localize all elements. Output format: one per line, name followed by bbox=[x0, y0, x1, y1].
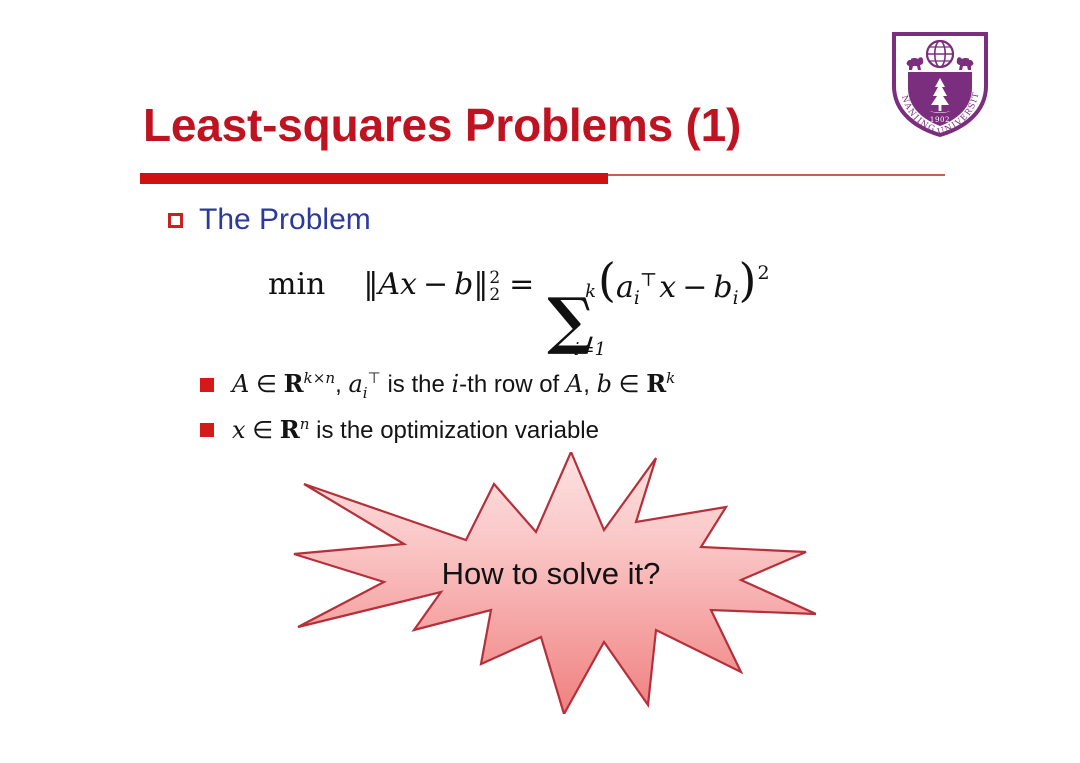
transpose-superscript: ⊤ bbox=[640, 270, 658, 291]
norm-minus: − bbox=[423, 267, 448, 302]
matrix-A: A bbox=[378, 267, 400, 302]
bullet-1-text: A ∈ Rk×n, ai⊤ is the i-th row of A, b ∈ … bbox=[232, 369, 675, 402]
norm-close-bar: ‖ bbox=[473, 267, 488, 302]
bullet-1-index-suffix: -th row of bbox=[459, 371, 559, 398]
sigma-icon: ∑ bbox=[547, 297, 594, 345]
bullet-item-variable: x ∈ Rn is the optimization variable bbox=[200, 415, 599, 445]
summand-expression: ai⊤x−bi bbox=[616, 270, 739, 309]
bullet-1-R1: R bbox=[284, 369, 304, 398]
bullet-1-R2-superscript: k bbox=[666, 369, 675, 387]
bullet-1-comma1: , bbox=[335, 371, 342, 398]
summation-operator: k ∑ i=1 bbox=[547, 283, 594, 359]
bullet-2-x: x bbox=[232, 416, 246, 444]
equation-norm-term: ‖Ax−b‖ 2 2 bbox=[363, 267, 506, 316]
summand-b: b bbox=[713, 270, 732, 305]
slide-canvas: 1902 NANJING UNIVERSITY Least-squares Pr… bbox=[0, 0, 1080, 763]
bullet-2-in1: ∈ bbox=[252, 417, 273, 444]
summand-group: ( ai⊤x−bi ) 2 bbox=[598, 266, 769, 305]
bullet-2-R1-superscript: n bbox=[300, 415, 310, 433]
vector-x: x bbox=[400, 267, 417, 302]
solid-square-bullet-icon bbox=[200, 378, 214, 392]
equals-sign: = bbox=[509, 267, 534, 302]
svg-text:1902: 1902 bbox=[930, 116, 950, 124]
equation-min-operator: min bbox=[268, 267, 325, 302]
summation-lower-limit: i=1 bbox=[574, 341, 606, 359]
summand-x: x bbox=[659, 270, 676, 305]
section-heading-label: The Problem bbox=[199, 203, 371, 237]
hollow-square-bullet-icon bbox=[168, 213, 183, 228]
title-underline-thick bbox=[140, 173, 608, 184]
solid-square-bullet-icon bbox=[200, 423, 214, 437]
summand-minus: − bbox=[682, 270, 707, 305]
starburst-callout-text: How to solve it? bbox=[286, 556, 816, 592]
bullet-1-A2: A bbox=[566, 370, 583, 398]
bullet-1-R2: R bbox=[646, 369, 666, 398]
summand-exponent: 2 bbox=[757, 262, 769, 284]
bullet-1-in2: ∈ bbox=[619, 371, 640, 398]
bullet-1-in1: ∈ bbox=[256, 371, 277, 398]
row-index-subscript: i bbox=[634, 288, 640, 309]
bullet-2-tail: is the optimization variable bbox=[316, 417, 599, 444]
bullet-2-text: x ∈ Rn is the optimization variable bbox=[232, 415, 599, 445]
bullet-1-a-transpose: ⊤ bbox=[368, 370, 381, 387]
bullet-1-mid: is the bbox=[387, 371, 444, 398]
row-vector-a: a bbox=[616, 270, 634, 305]
bullet-1-a: a bbox=[348, 370, 362, 398]
paren-open: ( bbox=[598, 264, 616, 297]
norm-exponent-subscript: 2 2 bbox=[489, 270, 500, 305]
least-squares-equation: min ‖Ax−b‖ 2 2 = k ∑ i=1 ( ai⊤x−bi ) 2 bbox=[268, 262, 769, 356]
bullet-1-comma2: , bbox=[583, 371, 590, 398]
bullet-2-R1: R bbox=[280, 415, 300, 444]
vector-b: b bbox=[454, 267, 473, 302]
section-heading: The Problem bbox=[168, 203, 371, 237]
norm-open-bar: ‖ bbox=[363, 267, 378, 302]
norm-subscript: 2 bbox=[489, 287, 500, 304]
slide-title: Least-squares Problems (1) bbox=[143, 98, 741, 152]
nanjing-university-crest-logo: 1902 NANJING UNIVERSITY bbox=[888, 28, 992, 138]
paren-close: ) bbox=[739, 264, 757, 297]
bullet-1-b: b bbox=[597, 370, 612, 398]
bullet-1-A: A bbox=[232, 370, 249, 398]
bullet-1-R1-superscript: k×n bbox=[304, 369, 336, 387]
bullet-item-dimensions: A ∈ Rk×n, ai⊤ is the i-th row of A, b ∈ … bbox=[200, 369, 675, 402]
